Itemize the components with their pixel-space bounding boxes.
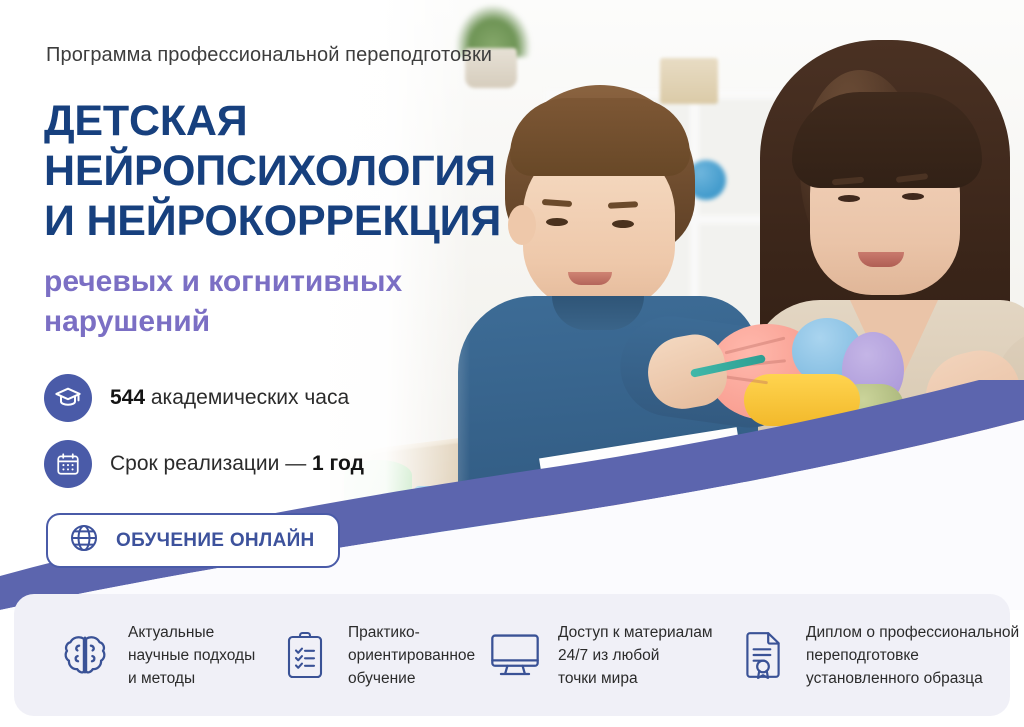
features-panel: Актуальные научные подходы и методы [14,594,1010,716]
feature-practice-oriented-text: Практико- ориентированное обучение [348,621,475,690]
fact-duration-value: 1 год [312,452,364,475]
fact-academic-hours-value: 544 [110,386,145,409]
feature-line: Диплом о профессиональной [806,621,1019,644]
diploma-icon [734,629,792,681]
boy-eye-left [546,218,568,226]
feature-materials-access: Доступ к материалам 24/7 из любой точки … [486,621,734,690]
fact-duration-text: Срок реализации — 1 год [110,452,364,476]
fact-academic-hours-text: 544 академических часа [110,386,349,410]
woman-hair-front [792,92,982,188]
graduation-cap-icon [44,374,92,422]
woman-finger [969,410,997,469]
clipboard-checklist-icon [276,630,334,680]
online-study-button-label: ОБУЧЕНИЕ ОНЛАЙН [116,530,315,552]
page-title: ДЕТСКАЯ НЕЙРОПСИХОЛОГИЯ И НЕЙРОКОРРЕКЦИЯ [44,96,501,246]
fact-duration-prefix: Срок реализации — [110,452,312,475]
feature-line: и методы [128,667,255,690]
calendar-icon [44,440,92,488]
subhead-line-1: речевых и когнитивных [44,262,402,302]
monitor-icon [486,631,544,679]
feature-line: установленного образца [806,667,1019,690]
subhead-line-2: нарушений [44,302,402,342]
feature-practice-oriented: Практико- ориентированное обучение [276,621,486,690]
fact-academic-hours: 544 академических часа [44,374,349,422]
feature-line: обучение [348,667,475,690]
woman-eye-left [838,195,860,202]
headline-line-1: ДЕТСКАЯ [44,96,501,146]
feature-line: Доступ к материалам [558,621,713,644]
fact-duration: Срок реализации — 1 год [44,440,364,488]
page-subtitle: речевых и когнитивных нарушений [44,262,402,342]
wooden-box [660,58,718,104]
feature-line: Актуальные [128,621,255,644]
globe-icon [68,522,100,559]
toy-block-purple [592,520,650,582]
feature-line: ориентированное [348,644,475,667]
feature-line: научные подходы [128,644,255,667]
boy-ear [508,205,536,245]
woman-eye-right [902,193,924,200]
boy-eye-right [612,220,634,228]
feature-scientific-approaches: Актуальные научные подходы и методы [14,621,276,690]
online-study-button[interactable]: ОБУЧЕНИЕ ОНЛАЙН [46,513,340,568]
feature-line: 24/7 из любой [558,644,713,667]
boy-mouth [568,272,612,285]
brain-icon [56,629,114,681]
feature-materials-access-text: Доступ к материалам 24/7 из любой точки … [558,621,713,690]
boy-fringe [510,98,690,176]
feature-line: Практико- [348,621,475,644]
kicker-text: Программа профессиональной переподготовк… [46,44,492,67]
feature-diploma: Диплом о профессиональной переподготовке… [734,621,1010,690]
headline-line-2: НЕЙРОПСИХОЛОГИЯ [44,146,501,196]
fact-academic-hours-label: академических часа [145,386,349,409]
feature-line: переподготовке [806,644,1019,667]
feature-diploma-text: Диплом о профессиональной переподготовке… [806,621,1019,690]
headline-line-3: И НЕЙРОКОРРЕКЦИЯ [44,196,501,246]
feature-line: точки мира [558,667,713,690]
feature-scientific-approaches-text: Актуальные научные подходы и методы [128,621,255,690]
features-list: Актуальные научные подходы и методы [14,594,1010,716]
brain-model [708,318,912,428]
toy-block-orange [528,536,590,584]
promo-poster: Программа профессиональной переподготовк… [0,0,1024,727]
